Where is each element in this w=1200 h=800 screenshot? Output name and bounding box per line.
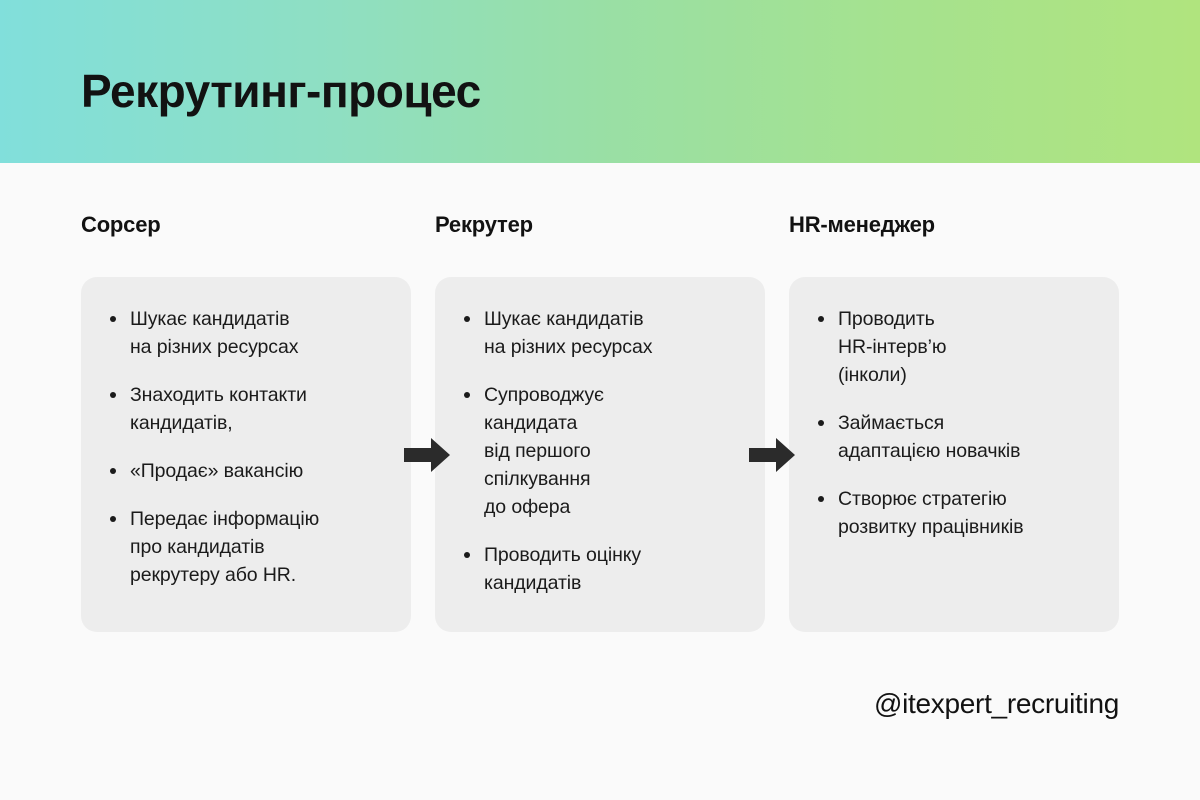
list-item-label: Шукає кандидатів на різних ресурсах <box>484 305 743 361</box>
list-item: Проводить оцінку кандидатів <box>457 541 743 597</box>
list-item: Проводить HR-інтерв’ю (інколи) <box>811 305 1097 389</box>
column-header-recruiter: Рекрутер <box>435 210 765 277</box>
list-item: Створює стратегію розвитку працівників <box>811 485 1097 541</box>
column-hr-manager: HR-менеджер Проводить HR-інтерв’ю (інкол… <box>789 210 1119 632</box>
bullet-dot-icon <box>110 516 116 522</box>
card-sorcer: Шукає кандидатів на різних ресурсах Знах… <box>81 277 411 632</box>
social-handle: @itexpert_recruiting <box>874 686 1119 722</box>
column-sorcer: Сорсер Шукає кандидатів на різних ресурс… <box>81 210 411 632</box>
column-header-sorcer: Сорсер <box>81 210 411 277</box>
list-item-label: Знаходить контакти кандидатів, <box>130 381 389 437</box>
arrow-right-icon <box>749 437 795 473</box>
bullet-dot-icon <box>818 420 824 426</box>
list-item-label: Супроводжує кандидата від першого спілку… <box>484 381 743 521</box>
list-item-label: «Продає» вакансію <box>130 457 389 485</box>
bullet-dot-icon <box>818 316 824 322</box>
column-header-hr-manager: HR-менеджер <box>789 210 1119 277</box>
list-item: «Продає» вакансію <box>103 457 389 485</box>
bullet-dot-icon <box>110 392 116 398</box>
list-item: Супроводжує кандидата від першого спілку… <box>457 381 743 521</box>
list-item: Шукає кандидатів на різних ресурсах <box>457 305 743 361</box>
slide-root: Рекрутинг-процес Сорсер Шукає кандидатів… <box>0 0 1200 800</box>
list-item: Передає інформацію про кандидатів рекрут… <box>103 505 389 589</box>
bullet-dot-icon <box>110 316 116 322</box>
bullet-dot-icon <box>464 392 470 398</box>
list-item: Займається адаптацією новачків <box>811 409 1097 465</box>
bullet-dot-icon <box>110 468 116 474</box>
list-item: Знаходить контакти кандидатів, <box>103 381 389 437</box>
list-item-label: Проводить HR-інтерв’ю (інколи) <box>838 305 1097 389</box>
role-columns: Сорсер Шукає кандидатів на різних ресурс… <box>81 210 1119 632</box>
list-item-label: Передає інформацію про кандидатів рекрут… <box>130 505 389 589</box>
list-item-label: Проводить оцінку кандидатів <box>484 541 743 597</box>
card-recruiter: Шукає кандидатів на різних ресурсах Супр… <box>435 277 765 632</box>
list-item: Шукає кандидатів на різних ресурсах <box>103 305 389 361</box>
page-title: Рекрутинг-процес <box>81 62 481 120</box>
list-item-label: Шукає кандидатів на різних ресурсах <box>130 305 389 361</box>
bullet-list-sorcer: Шукає кандидатів на різних ресурсах Знах… <box>103 305 389 589</box>
header-banner: Рекрутинг-процес <box>0 0 1200 163</box>
card-hr-manager: Проводить HR-інтерв’ю (інколи) Займаєтьс… <box>789 277 1119 632</box>
list-item-label: Займається адаптацією новачків <box>838 409 1097 465</box>
list-item-label: Створює стратегію розвитку працівників <box>838 485 1097 541</box>
bullet-list-recruiter: Шукає кандидатів на різних ресурсах Супр… <box>457 305 743 597</box>
bullet-dot-icon <box>464 552 470 558</box>
bullet-list-hr-manager: Проводить HR-інтерв’ю (інколи) Займаєтьс… <box>811 305 1097 541</box>
bullet-dot-icon <box>464 316 470 322</box>
bullet-dot-icon <box>818 496 824 502</box>
column-recruiter: Рекрутер Шукає кандидатів на різних ресу… <box>435 210 765 632</box>
arrow-right-icon <box>404 437 450 473</box>
